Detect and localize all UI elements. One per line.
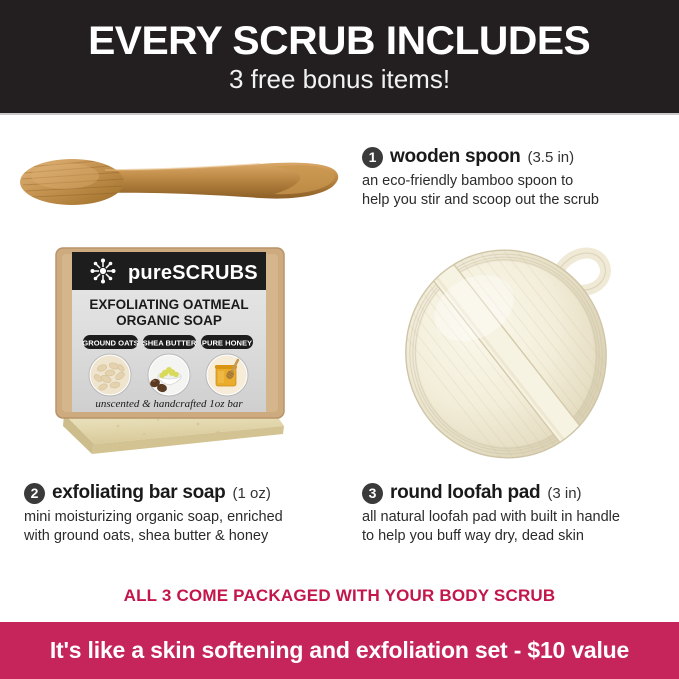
- ingredient-photo-honey: [206, 354, 248, 396]
- badge-pure-honey: PURE HONEY: [202, 339, 252, 348]
- soap-product-line-2: ORGANIC SOAP: [116, 313, 222, 328]
- item-1-number-badge: 1: [362, 147, 383, 168]
- badge-ground-oats: GROUND OATS: [82, 339, 138, 348]
- item-3-name: round loofah pad: [390, 482, 540, 504]
- header-banner: EVERY SCRUB INCLUDES 3 free bonus items!: [0, 0, 679, 113]
- header-divider: [0, 113, 679, 115]
- value-banner: It's like a skin softening and exfoliati…: [0, 622, 679, 679]
- soap-bar-package-image: pureSCRUBS EXFOLIATING OATMEAL ORGANIC S…: [48, 240, 308, 465]
- item-2-name: exfoliating bar soap: [52, 482, 225, 504]
- item-2-description: mini moisturizing organic soap, enriched…: [24, 508, 283, 547]
- item-2-text-block: 2 exfoliating bar soap (1 oz) mini moist…: [24, 482, 283, 547]
- item-2-desc-line-1: mini moisturizing organic soap, enriched: [24, 508, 283, 527]
- item-3-title: 3 round loofah pad (3 in): [362, 482, 620, 504]
- item-1-text-block: 1 wooden spoon (3.5 in) an eco-friendly …: [362, 146, 599, 211]
- item-1-title: 1 wooden spoon (3.5 in): [362, 146, 599, 168]
- item-2-number-badge: 2: [24, 483, 45, 504]
- item-2-size: (1 oz): [232, 485, 270, 502]
- page-subtitle: 3 free bonus items!: [229, 66, 450, 92]
- bamboo-spoon-image: [10, 145, 350, 220]
- item-3-size: (3 in): [547, 485, 581, 502]
- soap-ingredient-badges: GROUND OATS SHEA BUTTER PURE HONEY: [82, 335, 253, 349]
- item-3-desc-line-2: to help you buff way dry, dead skin: [362, 527, 620, 546]
- item-1-description: an eco-friendly bamboo spoon to help you…: [362, 172, 599, 211]
- badge-shea-butter: SHEA BUTTER: [143, 339, 197, 348]
- item-1-desc-line-2: help you stir and scoop out the scrub: [362, 191, 599, 210]
- soap-brand-name: pureSCRUBS: [128, 262, 258, 284]
- item-2-title: 2 exfoliating bar soap (1 oz): [24, 482, 283, 504]
- brand-mandala-icon: [91, 259, 116, 284]
- value-banner-text: It's like a skin softening and exfoliati…: [50, 637, 629, 664]
- item-3-description: all natural loofah pad with built in han…: [362, 508, 620, 547]
- item-3-number-badge: 3: [362, 483, 383, 504]
- item-1-name: wooden spoon: [390, 146, 520, 168]
- ingredient-photo-oats: [89, 354, 131, 396]
- item-2-desc-line-2: with ground oats, shea butter & honey: [24, 527, 283, 546]
- ingredient-photo-shea-butter: [148, 354, 190, 396]
- round-loofah-pad-image: [398, 232, 653, 467]
- item-3-desc-line-1: all natural loofah pad with built in han…: [362, 508, 620, 527]
- item-3-text-block: 3 round loofah pad (3 in) all natural lo…: [362, 482, 620, 547]
- item-1-size: (3.5 in): [527, 149, 574, 166]
- page-title: EVERY SCRUB INCLUDES: [88, 21, 590, 61]
- infographic-page: EVERY SCRUB INCLUDES 3 free bonus items!: [0, 0, 679, 679]
- item-1-desc-line-1: an eco-friendly bamboo spoon to: [362, 172, 599, 191]
- soap-product-line-1: EXFOLIATING OATMEAL: [89, 297, 248, 312]
- soap-footer-text: unscented & handcrafted 1oz bar: [95, 398, 243, 410]
- packaging-tagline: ALL 3 COME PACKAGED WITH YOUR BODY SCRUB: [0, 586, 679, 606]
